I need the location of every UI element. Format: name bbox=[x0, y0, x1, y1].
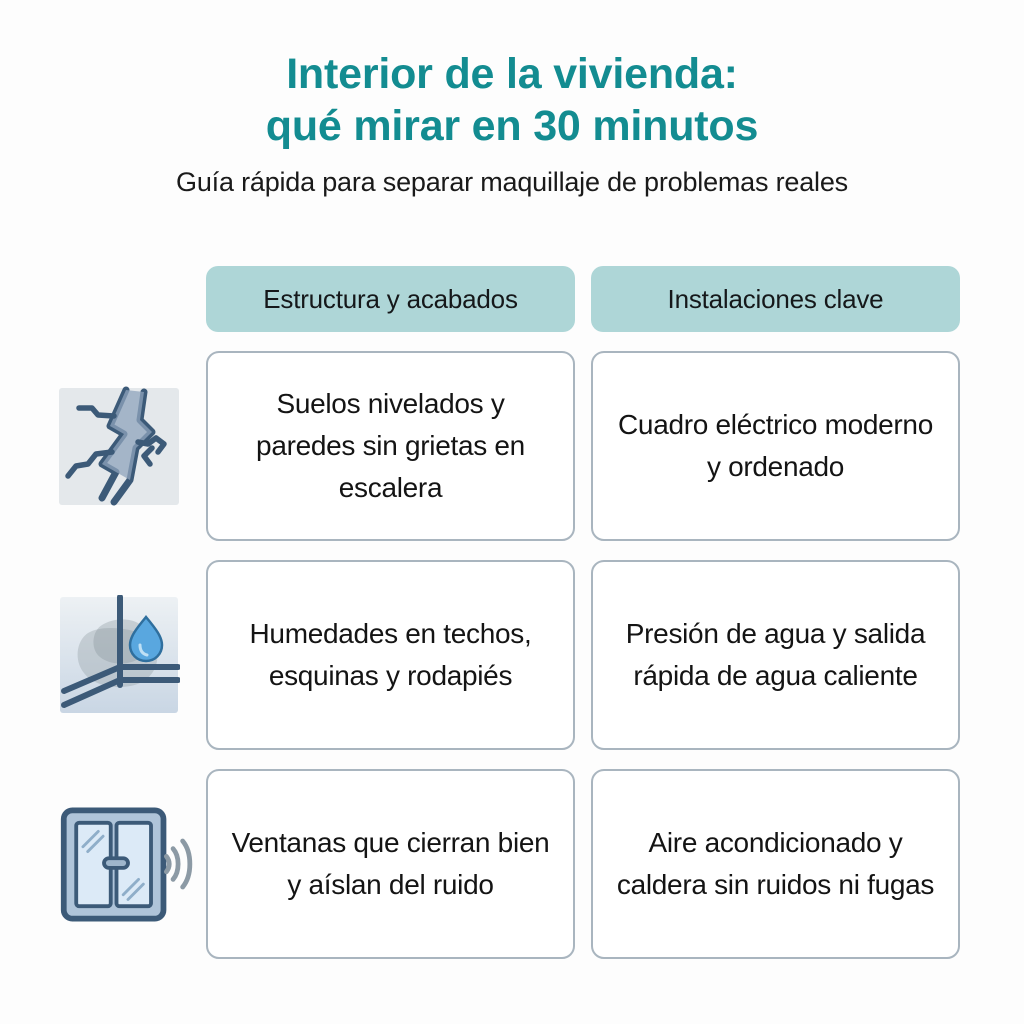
checklist-cell-r2c1[interactable]: Humedades en techos, esquinas y rodapiés bbox=[206, 560, 575, 750]
damp-corner-icon bbox=[58, 595, 180, 715]
icon-rail bbox=[58, 266, 198, 959]
page-header: Interior de la vivienda: qué mirar en 30… bbox=[0, 48, 1024, 198]
table-row: Suelos nivelados y paredes sin grietas e… bbox=[206, 351, 960, 541]
window-soundproof-icon bbox=[58, 802, 198, 927]
page-title-line-1: Interior de la vivienda: bbox=[0, 48, 1024, 100]
column-header-label: Estructura y acabados bbox=[263, 284, 518, 314]
page-subtitle: Guía rápida para separar maquillaje de p… bbox=[0, 166, 1024, 198]
page-title-line-2: qué mirar en 30 minutos bbox=[0, 100, 1024, 152]
column-header-label: Instalaciones clave bbox=[668, 284, 884, 314]
checklist-cell-text: Suelos nivelados y paredes sin grietas e… bbox=[226, 383, 555, 509]
column-header-row: Estructura y acabados Instalaciones clav… bbox=[206, 266, 960, 332]
checklist-cell-text: Presión de agua y salida rápida de agua … bbox=[611, 613, 940, 697]
column-header-estructura[interactable]: Estructura y acabados bbox=[206, 266, 575, 332]
icon-slot-row-2 bbox=[58, 560, 198, 750]
checklist-cell-r3c2[interactable]: Aire acondicionado y caldera sin ruidos … bbox=[591, 769, 960, 959]
checklist-cell-r1c2[interactable]: Cuadro eléctrico moderno y ordenado bbox=[591, 351, 960, 541]
checklist-cell-r1c1[interactable]: Suelos nivelados y paredes sin grietas e… bbox=[206, 351, 575, 541]
icon-slot-row-3 bbox=[58, 769, 198, 959]
wall-crack-icon bbox=[58, 386, 180, 506]
checklist-cell-r2c2[interactable]: Presión de agua y salida rápida de agua … bbox=[591, 560, 960, 750]
table-row: Ventanas que cierran bien y aíslan del r… bbox=[206, 769, 960, 959]
column-header-instalaciones[interactable]: Instalaciones clave bbox=[591, 266, 960, 332]
infographic-page: Interior de la vivienda: qué mirar en 30… bbox=[0, 0, 1024, 1024]
checklist-cell-text: Ventanas que cierran bien y aíslan del r… bbox=[226, 822, 555, 906]
checklist-cell-text: Humedades en techos, esquinas y rodapiés bbox=[226, 613, 555, 697]
checklist-cell-r3c1[interactable]: Ventanas que cierran bien y aíslan del r… bbox=[206, 769, 575, 959]
checklist-cell-text: Cuadro eléctrico moderno y ordenado bbox=[611, 404, 940, 488]
checklist-cell-text: Aire acondicionado y caldera sin ruidos … bbox=[611, 822, 940, 906]
checklist-grid: Estructura y acabados Instalaciones clav… bbox=[206, 266, 960, 959]
icon-slot-row-1 bbox=[58, 351, 198, 541]
table-row: Humedades en techos, esquinas y rodapiés… bbox=[206, 560, 960, 750]
page-title: Interior de la vivienda: qué mirar en 30… bbox=[0, 48, 1024, 152]
